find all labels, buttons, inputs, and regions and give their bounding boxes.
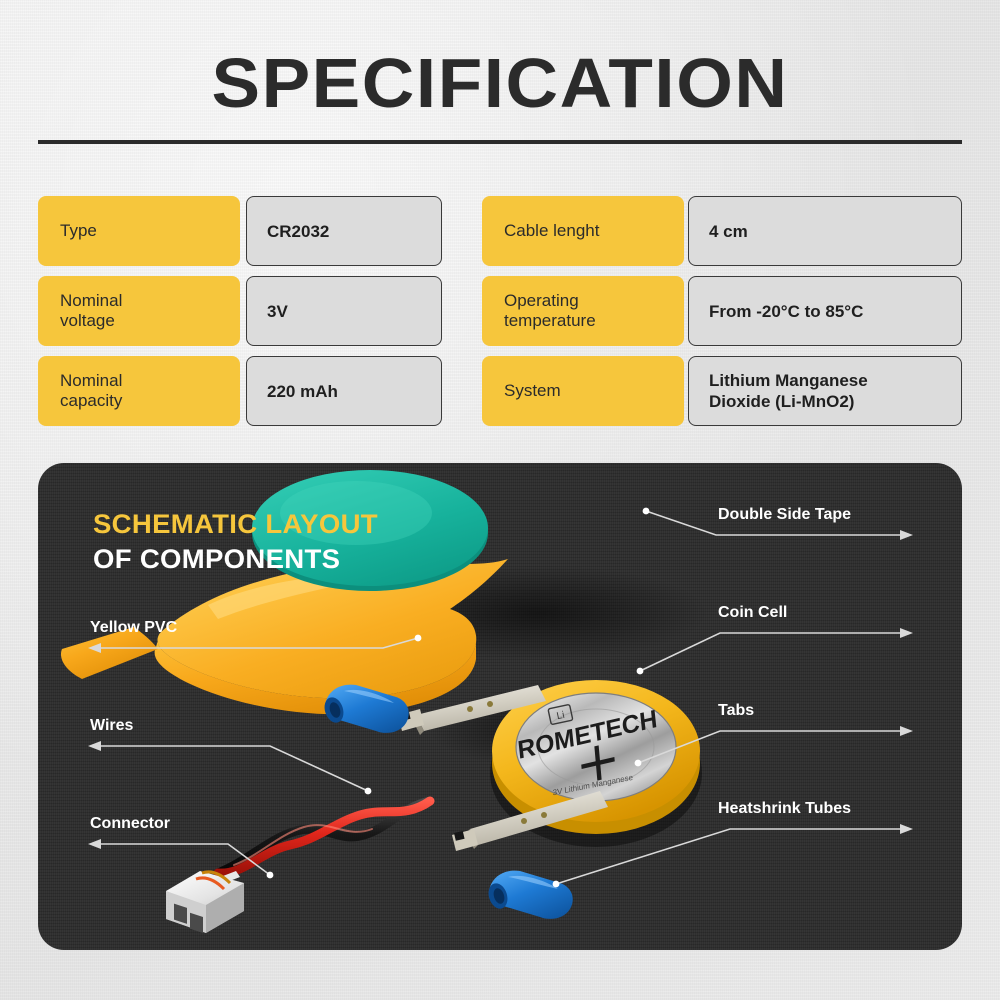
spec-value-cable-length: 4 cm [688, 196, 962, 266]
schematic-heading-line2: OF COMPONENTS [93, 543, 378, 575]
spec-label-system: System [482, 356, 684, 426]
infographic-page: SPECIFICATION Type CR2032 Nominal voltag… [0, 0, 1000, 1000]
spec-row: Cable lenght 4 cm [482, 196, 962, 266]
cell-small-print: 3V Lithium Manganese [552, 773, 633, 798]
spec-value-system: Lithium Manganese Dioxide (Li-MnO2) [688, 356, 962, 426]
heatshrink-upper [321, 685, 408, 733]
schematic-heading: SCHEMATIC LAYOUT OF COMPONENTS [93, 508, 372, 575]
callout-label-wires: Wires [90, 717, 133, 735]
callout-label-double-side-tape: Double Side Tape [718, 506, 851, 524]
callout-label-yellow-pvc: Yellow PVC [90, 619, 177, 637]
spec-value-type: CR2032 [246, 196, 442, 266]
spec-label-type: Type [38, 196, 240, 266]
title-divider [38, 140, 962, 144]
spec-row: Type CR2032 [38, 196, 442, 266]
tab-lower [466, 791, 608, 849]
spec-row: System Lithium Manganese Dioxide (Li-MnO… [482, 356, 962, 426]
polarity-plus-icon [580, 742, 616, 784]
spec-row: Nominal capacity 220 mAh [38, 356, 442, 426]
spec-column-right: Cable lenght 4 cm Operating temperature … [482, 196, 962, 436]
spec-label-nominal-voltage: Nominal voltage [38, 276, 240, 346]
spec-value-nominal-capacity: 220 mAh [246, 356, 442, 426]
spec-label-operating-temperature: Operating temperature [482, 276, 684, 346]
schematic-heading-line1: SCHEMATIC LAYOUT [93, 508, 378, 540]
callout-label-tabs: Tabs [718, 702, 754, 720]
heatshrink-lower [485, 871, 572, 919]
callout-label-heatshrink-tubes: Heatshrink Tubes [718, 800, 851, 818]
schematic-panel: SCHEMATIC LAYOUT OF COMPONENTS [38, 463, 962, 950]
specification-table: Type CR2032 Nominal voltage 3V Nominal c… [38, 196, 962, 436]
jst-connector [166, 871, 244, 933]
spec-value-operating-temperature: From -20°C to 85°C [688, 276, 962, 346]
svg-text:Li: Li [556, 710, 566, 722]
spec-row: Nominal voltage 3V [38, 276, 442, 346]
spec-value-nominal-voltage: 3V [246, 276, 442, 346]
callout-label-connector: Connector [90, 815, 170, 833]
twisted-wires [218, 801, 430, 873]
spec-label-nominal-capacity: Nominal capacity [38, 356, 240, 426]
tab-upper [412, 685, 546, 735]
spec-row: Operating temperature From -20°C to 85°C [482, 276, 962, 346]
spec-column-left: Type CR2032 Nominal voltage 3V Nominal c… [38, 196, 442, 436]
spec-label-cable-length: Cable lenght [482, 196, 684, 266]
cell-brand-text: ROMETECH [516, 705, 658, 765]
page-title: SPECIFICATION [0, 46, 1000, 120]
callout-label-coin-cell: Coin Cell [718, 604, 787, 622]
